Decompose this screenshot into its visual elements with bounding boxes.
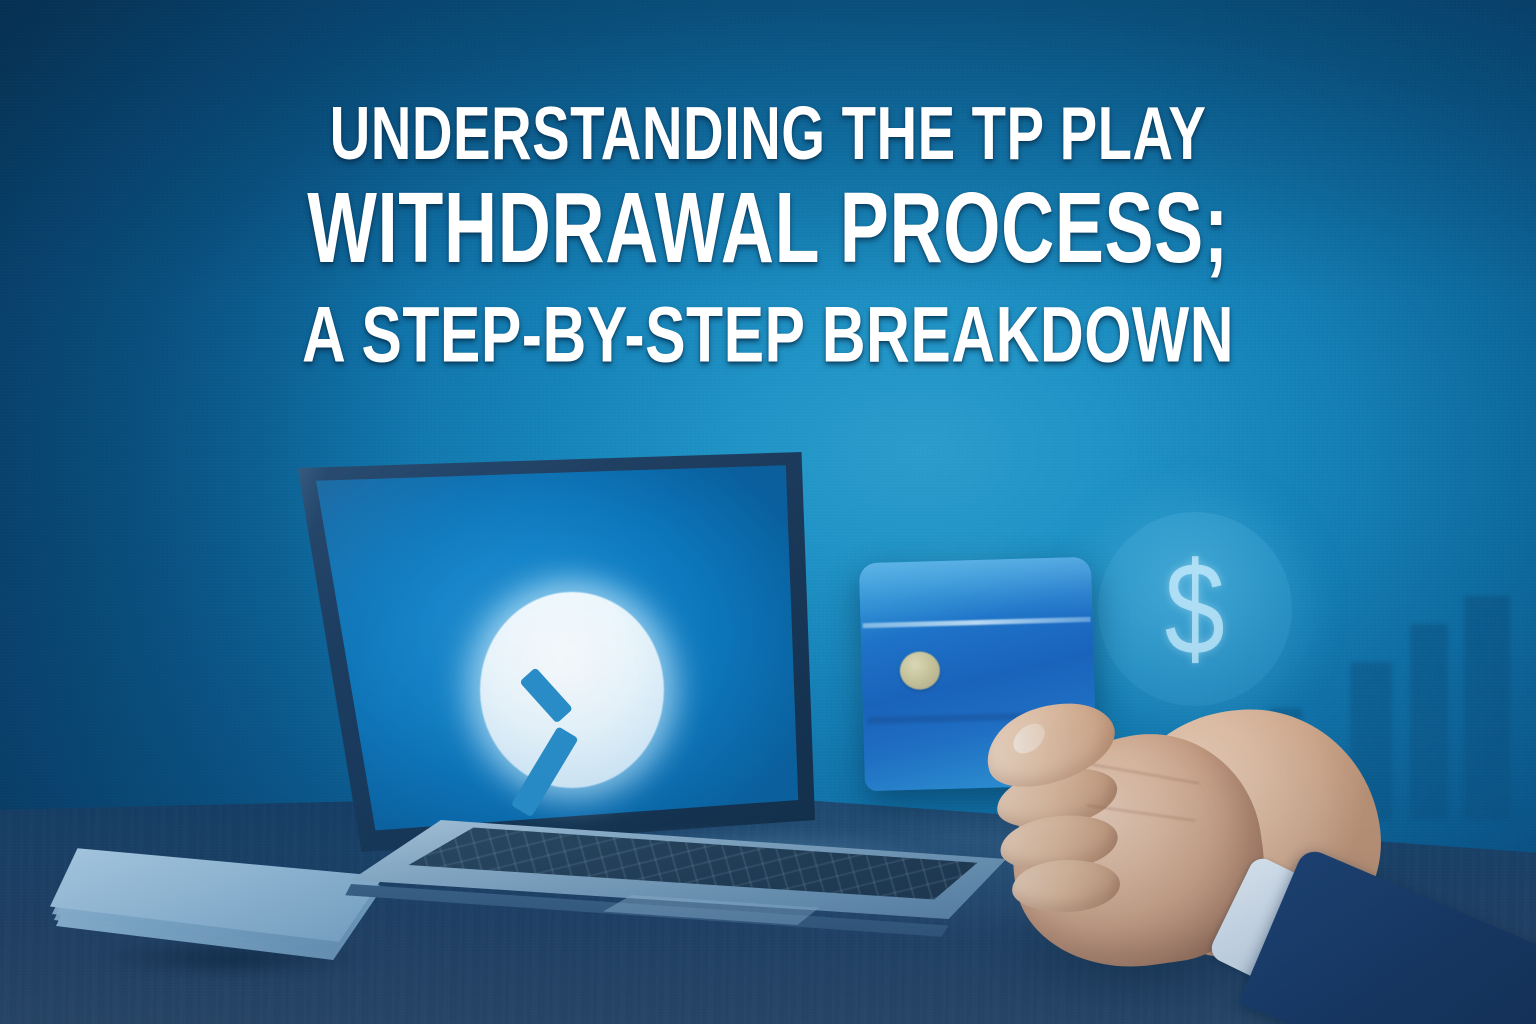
dollar-sign-badge: $ <box>1098 512 1292 706</box>
wallet-flap <box>859 557 1093 625</box>
check-stroke-short <box>519 667 573 723</box>
title-line-2: WITHDRAWAL PROCESS; <box>77 174 1459 284</box>
thumbnail <box>1008 718 1051 760</box>
title-line-1: UNDERSTANDING THE TP PLAY <box>92 89 1444 176</box>
hand-holding-wallet <box>960 700 1536 1024</box>
poster-canvas: $ <box>0 0 1536 1024</box>
dollar-sign-icon: $ <box>1165 543 1225 675</box>
check-icon <box>515 653 624 718</box>
title-line-3: A STEP-BY-STEP BREAKDOWN <box>61 288 1474 379</box>
check-circle-icon <box>480 592 664 788</box>
poster-title: UNDERSTANDING THE TP PLAY WITHDRAWAL PRO… <box>0 96 1536 372</box>
